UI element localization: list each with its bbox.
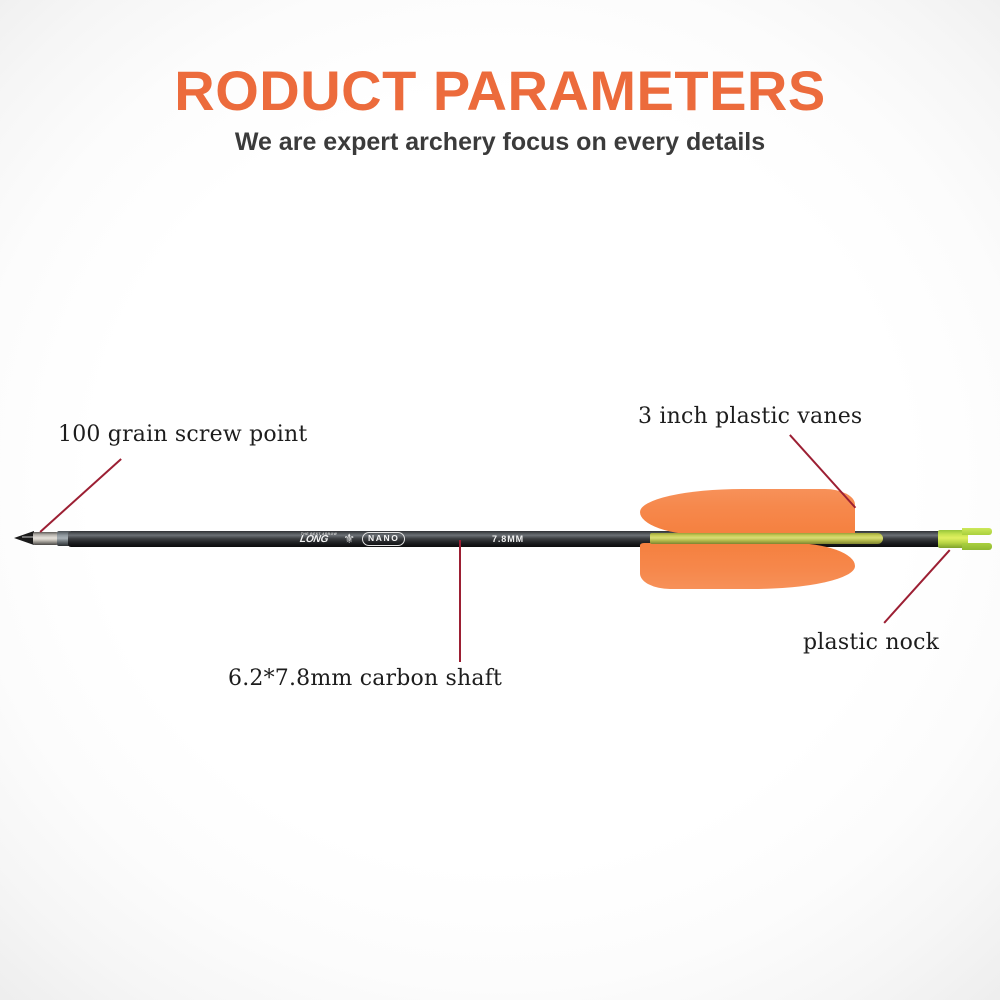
page-subtitle: We are expert archery focus on every det… bbox=[0, 127, 1000, 157]
nock-prong-upper bbox=[962, 528, 992, 535]
arrow-point-highlight bbox=[22, 536, 33, 538]
model-badge-nano: NANO bbox=[362, 532, 405, 545]
arrow-point-tip bbox=[14, 531, 34, 545]
fleur-de-lis-icon: ⚜ bbox=[343, 532, 355, 545]
leader-line-shaft bbox=[459, 540, 461, 662]
callout-label-carbon-shaft: 6.2*7.8mm carbon shaft bbox=[228, 666, 502, 691]
leader-line-vanes bbox=[789, 434, 856, 508]
arrow-point-insert bbox=[33, 532, 58, 545]
arrow-point-collar bbox=[57, 531, 71, 546]
product-parameters-infographic: RODUCT PARAMETERS We are expert archery … bbox=[0, 0, 1000, 1000]
page-title: RODUCT PARAMETERS bbox=[0, 62, 1000, 121]
header: RODUCT PARAMETERS We are expert archery … bbox=[0, 62, 1000, 157]
nock-body bbox=[938, 530, 968, 548]
shaft-diameter-marking: 7.8MM bbox=[492, 533, 524, 545]
shaft-branding: THE BEST ARROW LONG ⚜ NANO bbox=[300, 531, 405, 547]
brand-name: LONG bbox=[299, 535, 329, 545]
leader-line-nock bbox=[883, 549, 950, 623]
callout-label-plastic-nock: plastic nock bbox=[803, 630, 939, 655]
leader-line-point bbox=[39, 458, 121, 532]
brand-logo-long: THE BEST ARROW LONG bbox=[299, 533, 337, 545]
brand-tagline: THE BEST ARROW bbox=[300, 533, 337, 536]
vane-base-strip bbox=[650, 533, 883, 544]
callout-label-plastic-vanes: 3 inch plastic vanes bbox=[638, 404, 862, 429]
carbon-shaft bbox=[68, 531, 948, 547]
nock-prong-lower bbox=[962, 543, 992, 550]
vane-lower bbox=[640, 543, 855, 589]
callout-label-screw-point: 100 grain screw point bbox=[58, 422, 307, 447]
vane-upper bbox=[640, 489, 855, 535]
